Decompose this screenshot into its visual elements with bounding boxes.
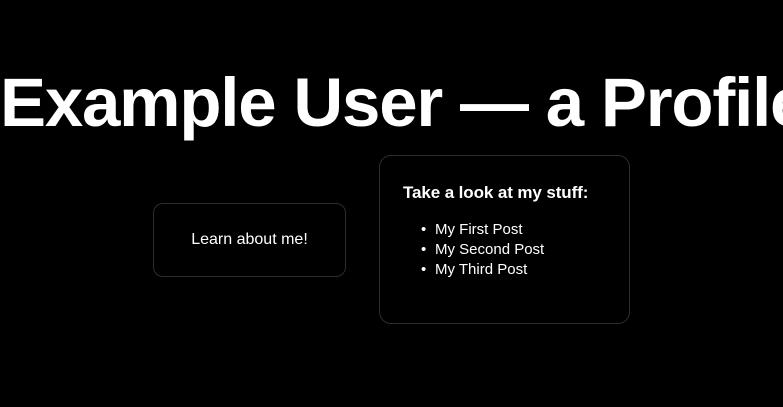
profile-page: Example User — a Profile Learn about me!… [0, 0, 783, 407]
list-item[interactable]: My Second Post [435, 240, 609, 260]
content-row: Learn about me! Take a look at my stuff:… [0, 155, 783, 325]
list-item[interactable]: My First Post [435, 220, 609, 240]
post-list: My First Post My Second Post My Third Po… [403, 220, 609, 280]
stuff-card-heading: Take a look at my stuff: [403, 182, 609, 204]
list-item[interactable]: My Third Post [435, 260, 609, 280]
page-title: Example User — a Profile [0, 62, 783, 144]
stuff-card: Take a look at my stuff: My First Post M… [379, 155, 630, 324]
learn-about-me-button[interactable]: Learn about me! [153, 203, 346, 277]
